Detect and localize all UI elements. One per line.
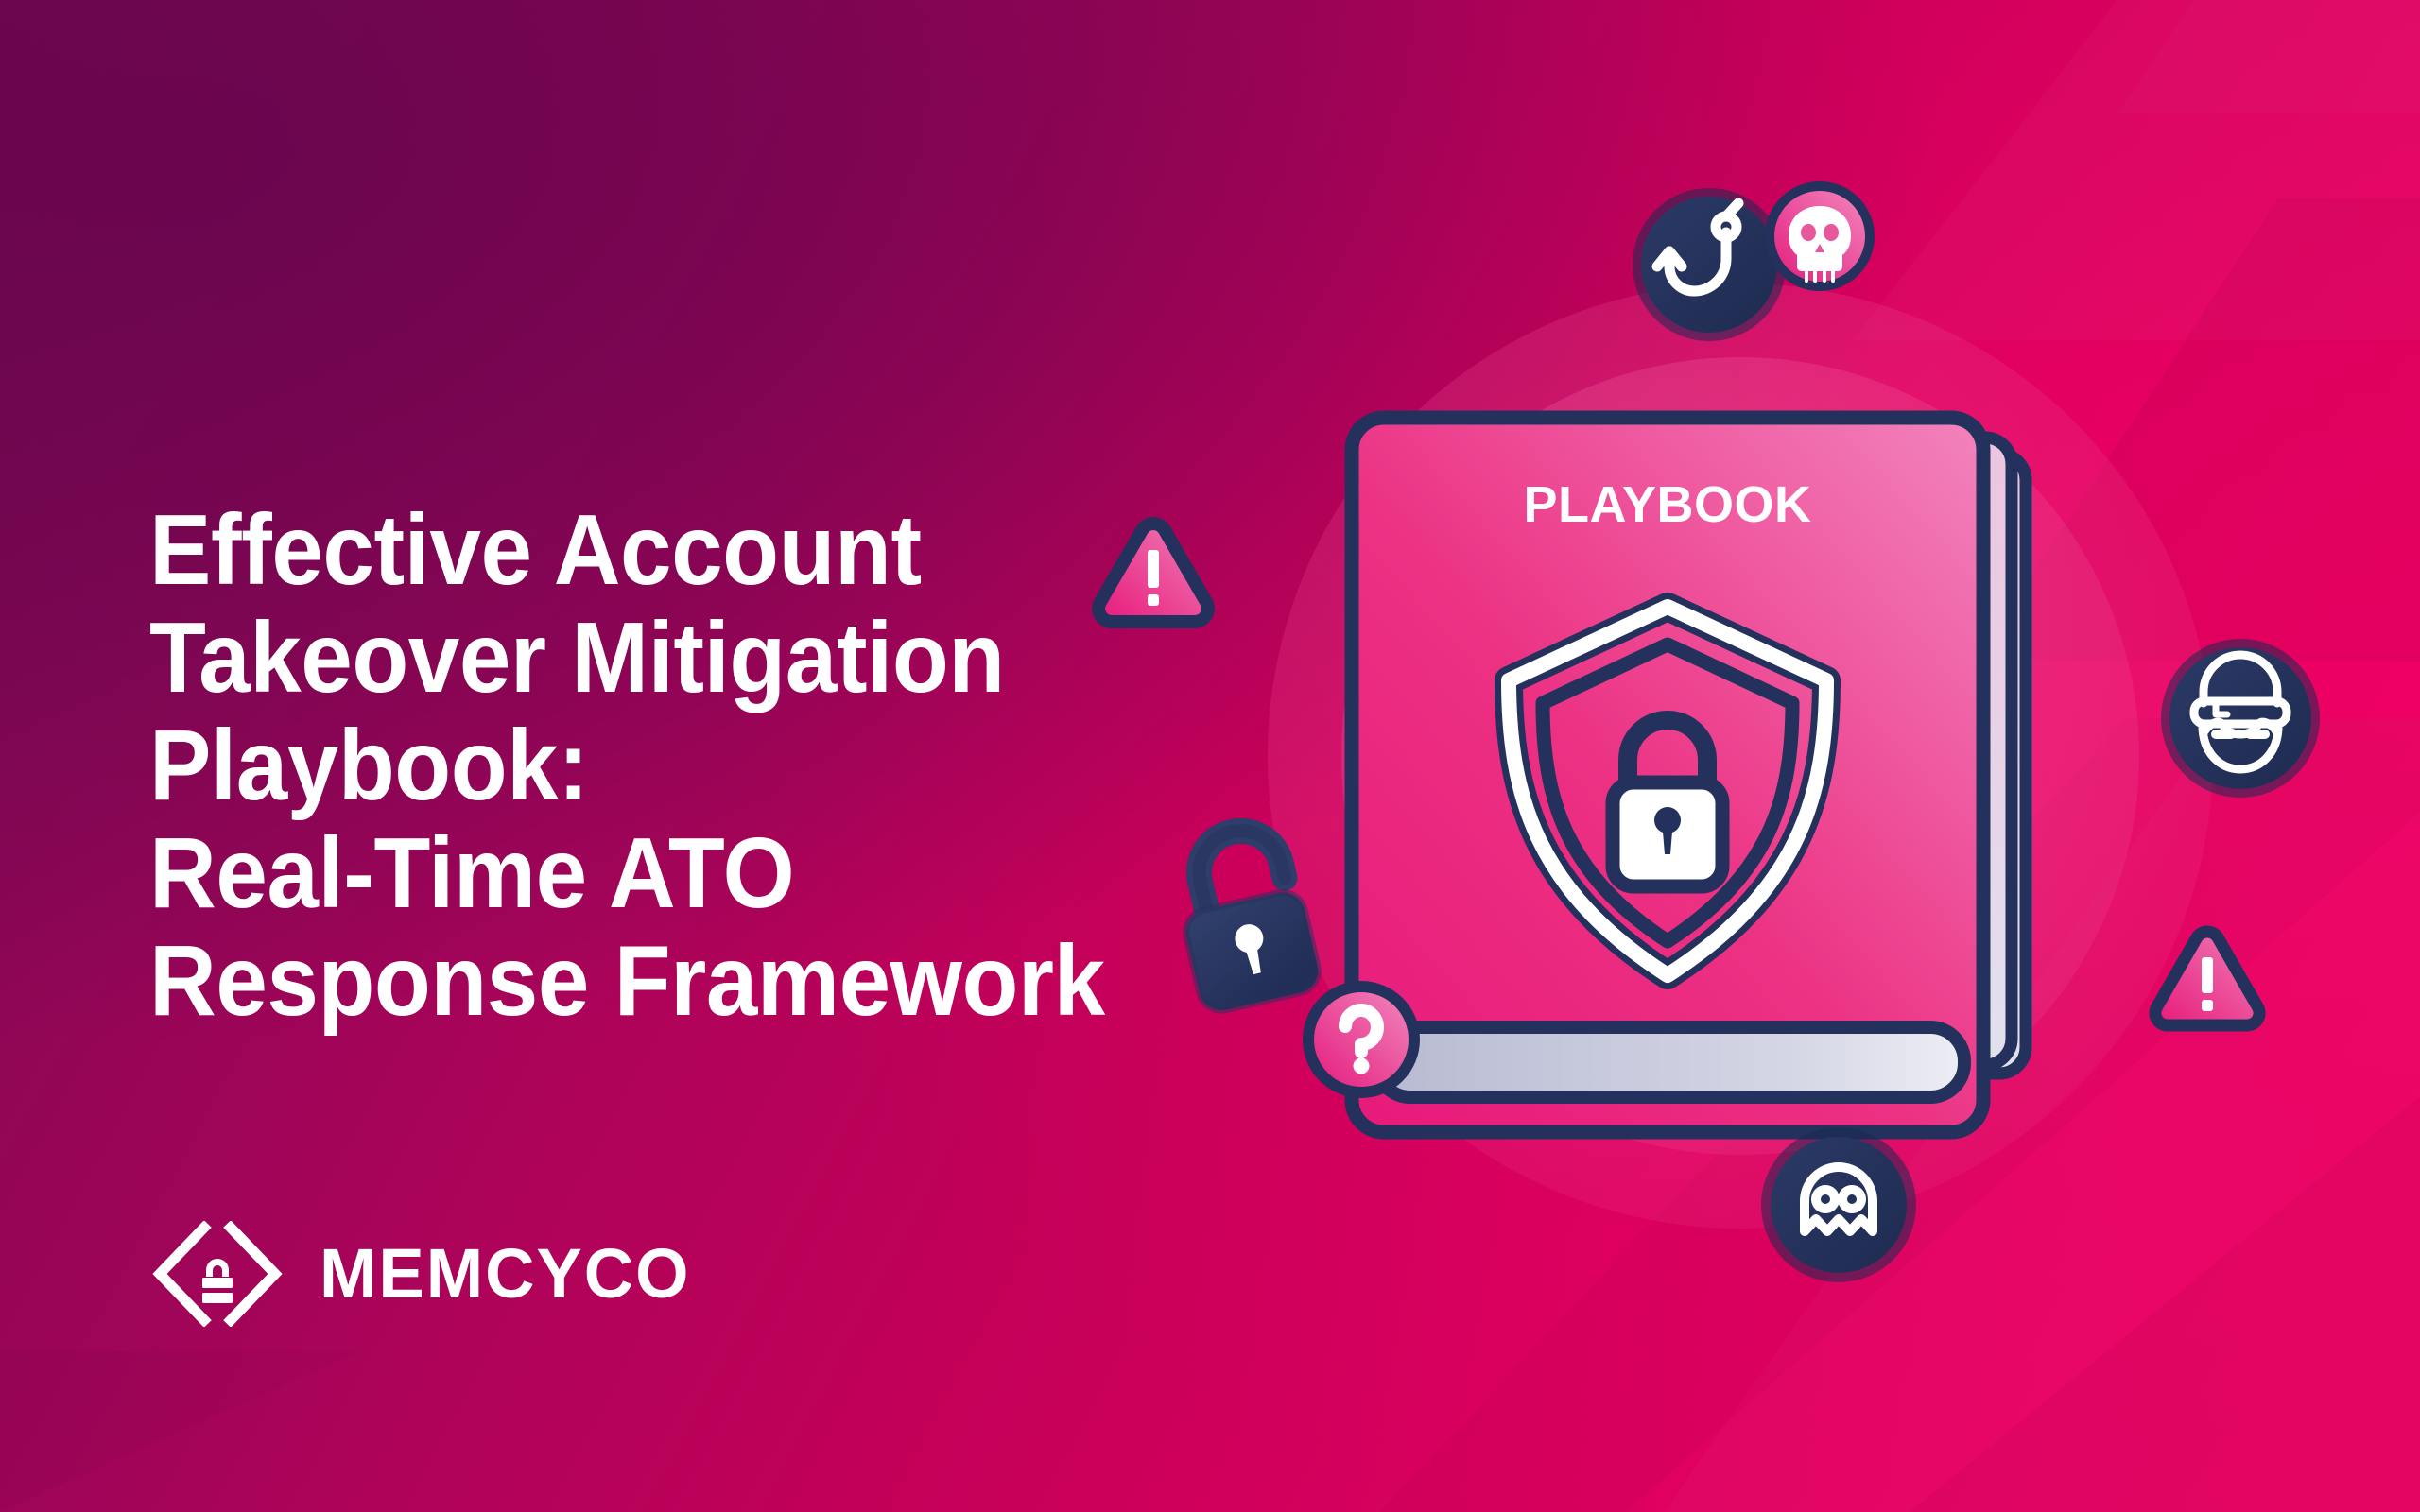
badge-phishing-hook [1633,188,1786,341]
book-cover-title: PLAYBOOK [1523,476,1811,533]
hero-banner: Effective Account Takeover Mitigation Pl… [0,0,2420,1512]
book-page-edge [1376,1027,1964,1097]
badge-ghost [1761,1127,1916,1282]
headline-line-4: Real-Time ATO [149,820,1304,928]
badge-alert-right [2155,932,2259,1025]
badge-question [1303,981,1420,1098]
badge-hacker [2161,639,2320,798]
badge-skull [1765,181,1875,291]
headline-line-3: Playbook: [149,713,1304,820]
warning-triangle-icon [2155,932,2259,1025]
diamond-bracket-padlock-icon [151,1221,284,1327]
memcyco-logo[interactable]: MEMCYCO [151,1221,698,1327]
playbook-illustration: PLAYBOOK [1257,312,2259,1266]
headline-line-5: Response Framework [149,928,1304,1036]
playbook-book: PLAYBOOK [1352,418,2026,1132]
logo-wordmark: MEMCYCO [320,1239,690,1309]
